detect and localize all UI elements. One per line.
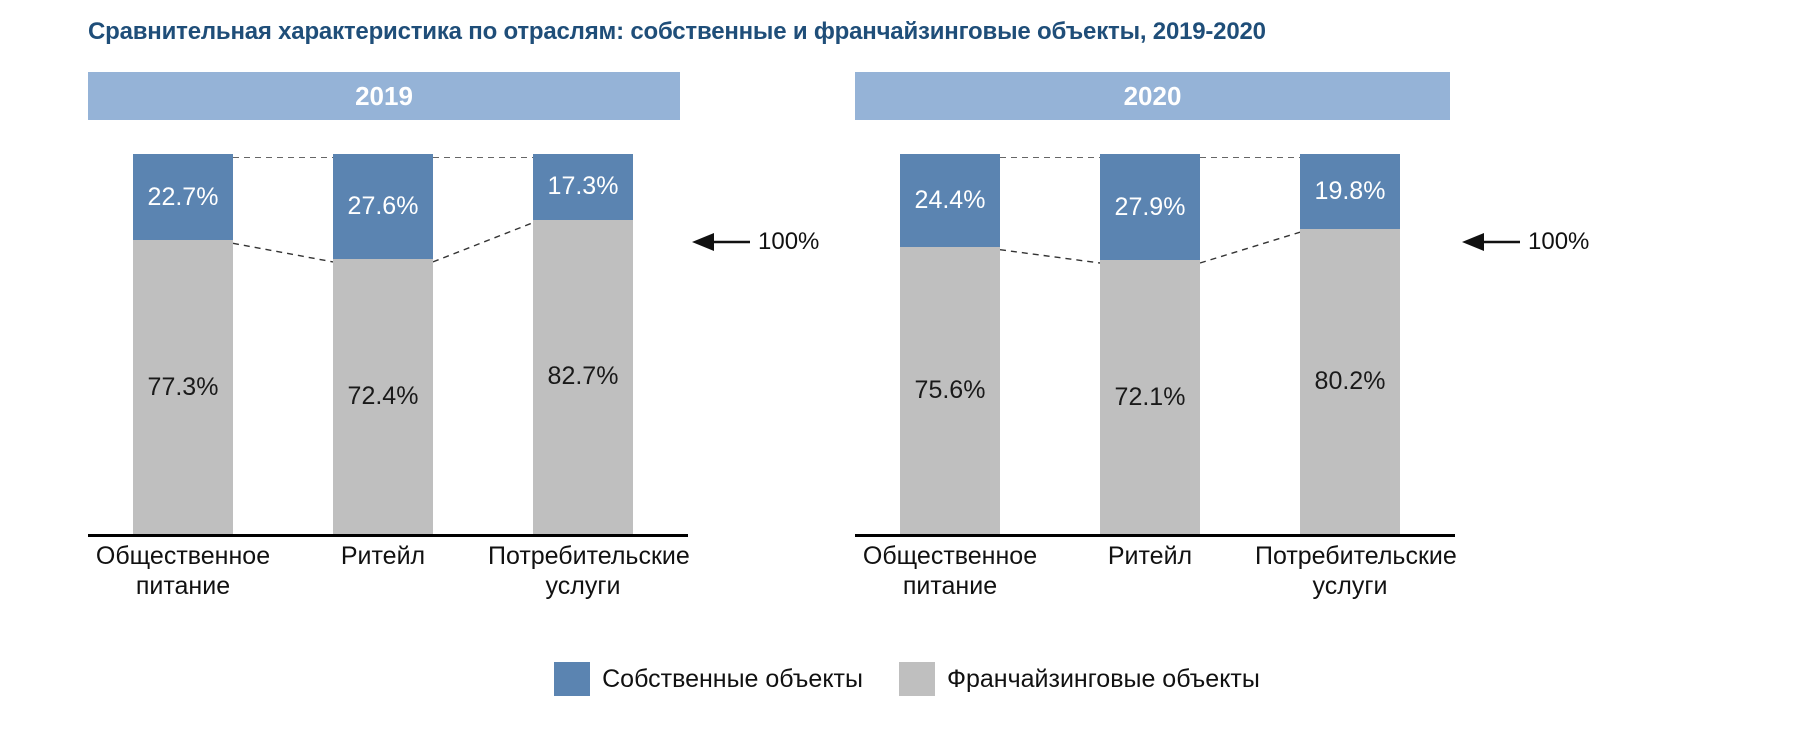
x-axis-line xyxy=(88,534,688,537)
bar-segment-own-label: 24.4% xyxy=(915,188,986,213)
bar-segment-franchise[interactable]: 75.6% xyxy=(900,247,1000,534)
stacked-bar[interactable]: 27.9% 72.1% xyxy=(1100,154,1200,534)
page-title: Сравнительная характеристика по отраслям… xyxy=(88,18,1266,46)
bar-segment-own-label: 27.9% xyxy=(1115,195,1186,220)
x-axis-line xyxy=(855,534,1455,537)
stacked-bar[interactable]: 24.4% 75.6% xyxy=(900,154,1000,534)
chart-panel-2019: 2019 22.7% 77.3% 27.6% 72.4% 17.3% xyxy=(88,72,778,632)
legend-item-own[interactable]: Собственные объекты xyxy=(554,662,863,696)
category-label: Потребительские услуги xyxy=(488,542,678,601)
stacked-bar[interactable]: 22.7% 77.3% xyxy=(133,154,233,534)
bar-segment-own-label: 19.8% xyxy=(1315,179,1386,204)
category-label: Ритейл xyxy=(288,542,478,572)
plot-area-2019: 22.7% 77.3% 27.6% 72.4% 17.3% 82.7% xyxy=(88,157,688,537)
bar-segment-own[interactable]: 19.8% xyxy=(1300,154,1400,229)
bar-segment-franchise[interactable]: 77.3% xyxy=(133,240,233,534)
bar-segment-franchise[interactable]: 80.2% xyxy=(1300,229,1400,534)
stacked-bar[interactable]: 17.3% 82.7% xyxy=(533,154,633,534)
panel-header-2020: 2020 xyxy=(855,72,1450,120)
bar-segment-franchise-label: 77.3% xyxy=(148,375,219,400)
total-annotation-2019: 100% xyxy=(692,228,819,256)
bar-segment-own-label: 17.3% xyxy=(548,174,619,199)
total-annotation-label: 100% xyxy=(1528,228,1589,256)
legend-swatch-franchise-icon xyxy=(899,662,935,696)
bar-segment-franchise-label: 80.2% xyxy=(1315,369,1386,394)
plot-area-2020: 24.4% 75.6% 27.9% 72.1% 19.8% 80.2% xyxy=(855,157,1455,537)
bar-segment-own-label: 27.6% xyxy=(348,194,419,219)
bar-segment-franchise[interactable]: 72.4% xyxy=(333,259,433,534)
bar-segment-own[interactable]: 27.9% xyxy=(1100,154,1200,260)
bar-segment-franchise-label: 72.1% xyxy=(1115,385,1186,410)
bar-segment-franchise[interactable]: 72.1% xyxy=(1100,260,1200,534)
chart-legend: Собственные объекты Франчайзинговые объе… xyxy=(0,662,1814,696)
legend-swatch-own-icon xyxy=(554,662,590,696)
category-label: Общественное питание xyxy=(855,542,1045,601)
bar-segment-own[interactable]: 24.4% xyxy=(900,154,1000,247)
chart-panel-2020: 2020 24.4% 75.6% 27.9% 72.1% 19.8% xyxy=(855,72,1545,632)
stacked-bar[interactable]: 19.8% 80.2% xyxy=(1300,154,1400,534)
total-annotation-label: 100% xyxy=(758,228,819,256)
bar-segment-own-label: 22.7% xyxy=(148,185,219,210)
category-label: Ритейл xyxy=(1055,542,1245,572)
bar-segment-own[interactable]: 22.7% xyxy=(133,154,233,240)
arrow-left-icon xyxy=(1462,232,1520,252)
legend-label-own: Собственные объекты xyxy=(602,665,863,694)
bar-segment-franchise-label: 75.6% xyxy=(915,378,986,403)
stacked-bar[interactable]: 27.6% 72.4% xyxy=(333,154,433,534)
panel-header-2019: 2019 xyxy=(88,72,680,120)
bar-segment-own[interactable]: 27.6% xyxy=(333,154,433,259)
legend-item-franchise[interactable]: Франчайзинговые объекты xyxy=(899,662,1260,696)
bar-segment-franchise[interactable]: 82.7% xyxy=(533,220,633,534)
arrow-left-icon xyxy=(692,232,750,252)
category-label: Потребительские услуги xyxy=(1255,542,1445,601)
bar-segment-franchise-label: 82.7% xyxy=(548,364,619,389)
total-annotation-2020: 100% xyxy=(1462,228,1589,256)
legend-label-franchise: Франчайзинговые объекты xyxy=(947,665,1260,694)
bar-segment-franchise-label: 72.4% xyxy=(348,384,419,409)
category-label: Общественное питание xyxy=(88,542,278,601)
bar-segment-own[interactable]: 17.3% xyxy=(533,154,633,220)
